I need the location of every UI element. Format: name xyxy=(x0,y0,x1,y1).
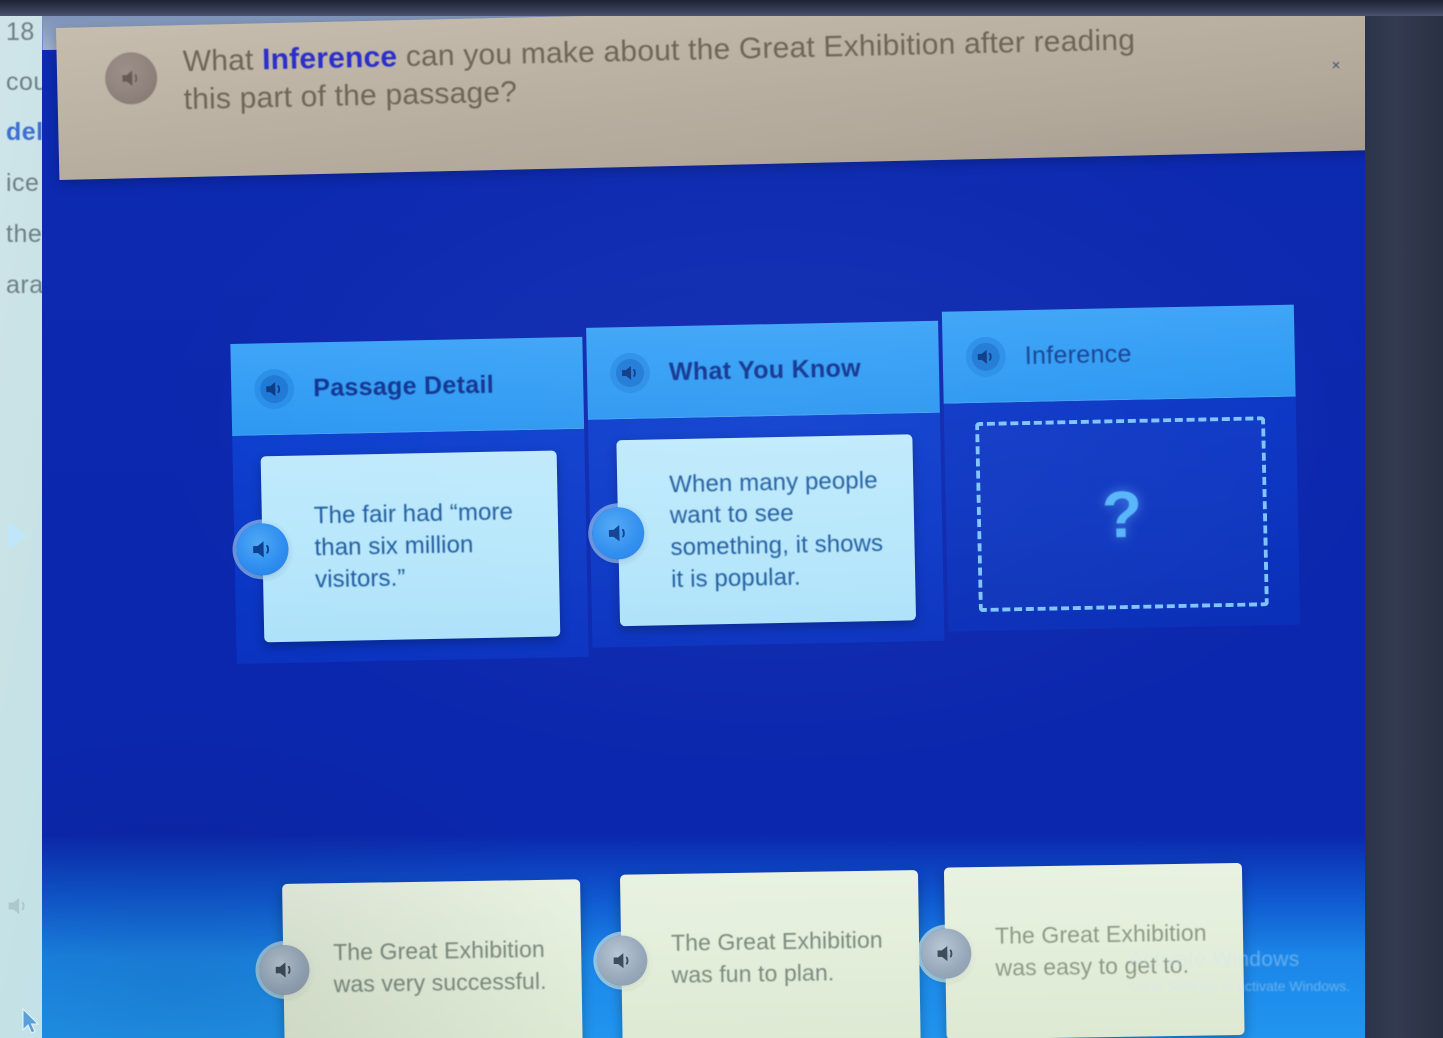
background-text-line: ara xyxy=(6,271,44,300)
background-text-line: 18 xyxy=(6,18,35,47)
column-header-label: Inference xyxy=(1024,339,1131,370)
monitor-bezel-right xyxy=(1365,0,1443,1038)
answer-option[interactable]: The Great Exhibition was very successful… xyxy=(282,879,583,1038)
background-text-line: the xyxy=(6,220,42,249)
speaker-icon[interactable] xyxy=(609,352,652,395)
answer-option-text: The Great Exhibition was fun to plan. xyxy=(671,924,906,991)
speaker-icon[interactable] xyxy=(259,945,310,996)
next-arrow-icon[interactable] xyxy=(2,518,32,559)
question-banner: What Inference can you make about the Gr… xyxy=(56,16,1372,180)
column-body-inference: ? xyxy=(944,397,1301,632)
question-mark-placeholder: ? xyxy=(1101,481,1143,548)
column-body-what-you-know: When many people want to see something, … xyxy=(588,413,945,648)
question-prefix: What xyxy=(182,43,262,78)
speaker-icon[interactable] xyxy=(105,52,158,105)
watermark-title: Activate Windows xyxy=(1129,945,1350,975)
passage-detail-card[interactable]: The fair had “more than six million visi… xyxy=(261,450,561,642)
background-text-line: ice xyxy=(6,169,39,198)
column-header-what-you-know: What You Know xyxy=(586,321,940,420)
speaker-icon[interactable] xyxy=(4,892,32,920)
column-header-passage-detail: Passage Detail xyxy=(230,337,584,436)
what-you-know-text: When many people want to see something, … xyxy=(669,464,899,595)
column-inference: Inference ? xyxy=(942,305,1301,657)
column-header-inference: Inference xyxy=(942,305,1296,404)
watermark-subtitle: Go to Settings to activate Windows. xyxy=(1129,976,1350,996)
close-icon[interactable]: × xyxy=(1326,56,1346,76)
speaker-icon[interactable] xyxy=(236,523,289,576)
column-what-you-know: What You Know When many people want to s… xyxy=(586,321,945,673)
speaker-icon[interactable] xyxy=(964,335,1007,378)
column-header-label: Passage Detail xyxy=(313,370,494,403)
speaker-icon[interactable] xyxy=(253,368,296,411)
background-text-line: del xyxy=(6,118,44,147)
inference-drop-zone[interactable]: ? xyxy=(975,416,1269,612)
question-text: What Inference can you make about the Gr… xyxy=(182,20,1183,119)
question-keyword: Inference xyxy=(262,40,398,76)
speaker-icon[interactable] xyxy=(921,928,972,979)
what-you-know-card[interactable]: When many people want to see something, … xyxy=(616,434,916,626)
answer-option[interactable]: The Great Exhibition was fun to plan. xyxy=(620,870,921,1038)
column-body-passage-detail: The fair had “more than six million visi… xyxy=(232,429,589,664)
speaker-icon[interactable] xyxy=(597,935,648,986)
column-passage-detail: Passage Detail The fair had “more than s… xyxy=(230,337,589,689)
answer-option-text: The Great Exhibition was very successful… xyxy=(333,934,568,1001)
lesson-app-surface: Inferences about Informational Text — In… xyxy=(42,16,1372,1038)
windows-activation-watermark: Activate Windows Go to Settings to activ… xyxy=(1129,945,1350,996)
screen-photo: 18 cou del ice the ara Inferences about … xyxy=(0,0,1443,1038)
column-header-label: What You Know xyxy=(669,354,861,387)
inference-grid: Passage Detail The fair had “more than s… xyxy=(230,305,1267,681)
passage-detail-text: The fair had “more than six million visi… xyxy=(314,496,544,596)
monitor-bezel-top xyxy=(0,0,1443,16)
mouse-cursor xyxy=(22,1008,42,1038)
speaker-icon[interactable] xyxy=(592,507,645,560)
